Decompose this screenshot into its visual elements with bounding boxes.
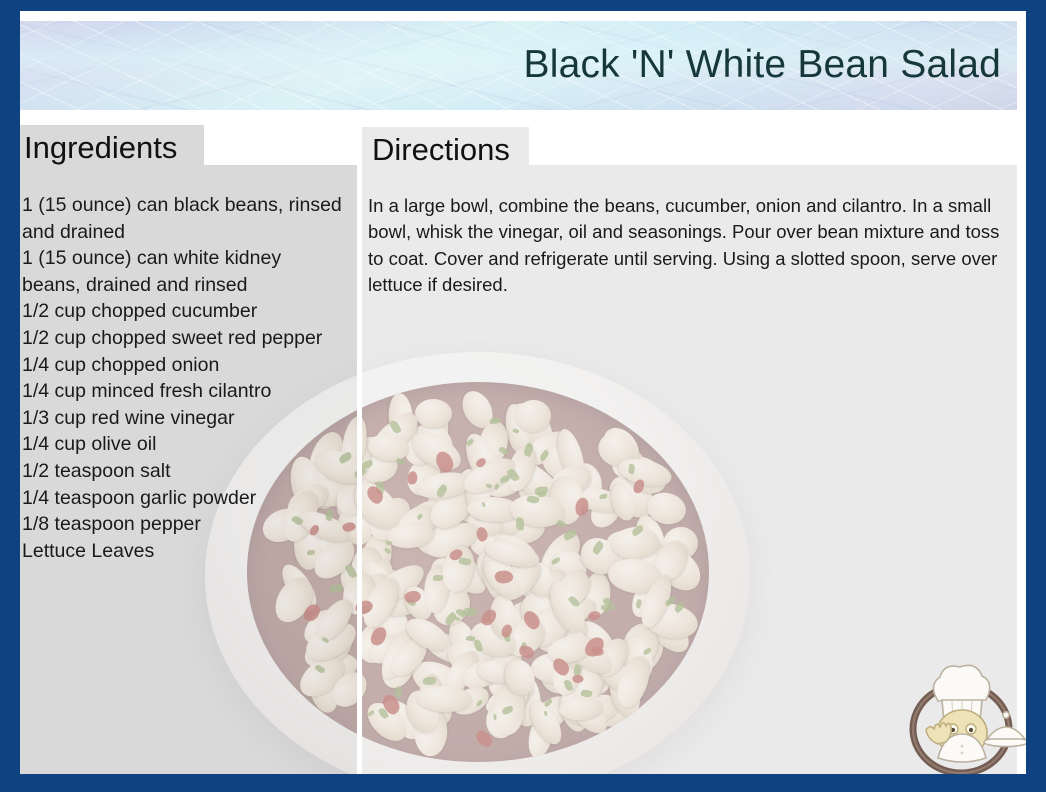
ingredient-item: 1/4 cup minced fresh cilantro [22, 378, 342, 405]
panel-divider [357, 165, 362, 774]
frame-left-border [0, 0, 20, 792]
ingredient-item: 1/4 teaspoon garlic powder [22, 485, 342, 512]
page-title: Black 'N' White Bean Salad [524, 43, 1002, 87]
ingredient-item: 1/4 cup olive oil [22, 431, 342, 458]
ingredient-item: 1/3 cup red wine vinegar [22, 405, 342, 432]
directions-heading-label: Directions [372, 132, 510, 168]
ingredients-heading-tab: Ingredients [14, 125, 204, 170]
ingredient-item: 1/4 cup chopped onion [22, 352, 342, 379]
frame-bottom-border [0, 774, 1046, 792]
ingredient-item: 1/8 teaspoon pepper [22, 511, 342, 538]
chef-with-platter-logo [898, 645, 1028, 777]
ingredients-heading-label: Ingredients [24, 130, 177, 166]
ingredient-item: Lettuce Leaves [22, 538, 342, 565]
ingredient-item: 1 (15 ounce) can white kidney beans, dra… [22, 245, 342, 298]
ingredients-list: 1 (15 ounce) can black beans, rinsed and… [22, 192, 342, 564]
ingredient-item: 1/2 teaspoon salt [22, 458, 342, 485]
ingredient-item: 1/2 cup chopped sweet red pepper [22, 325, 342, 352]
title-banner: Black 'N' White Bean Salad [20, 21, 1017, 110]
frame-top-border [0, 0, 1046, 11]
recipe-card-slide: Black 'N' White Bean Salad Ingredients D… [0, 0, 1046, 792]
ingredient-item: 1/2 cup chopped cucumber [22, 298, 342, 325]
ingredient-item: 1 (15 ounce) can black beans, rinsed and… [22, 192, 342, 245]
frame-right-border [1026, 0, 1046, 792]
directions-heading-tab: Directions [362, 127, 529, 172]
directions-body: In a large bowl, combine the beans, cucu… [368, 193, 1013, 299]
